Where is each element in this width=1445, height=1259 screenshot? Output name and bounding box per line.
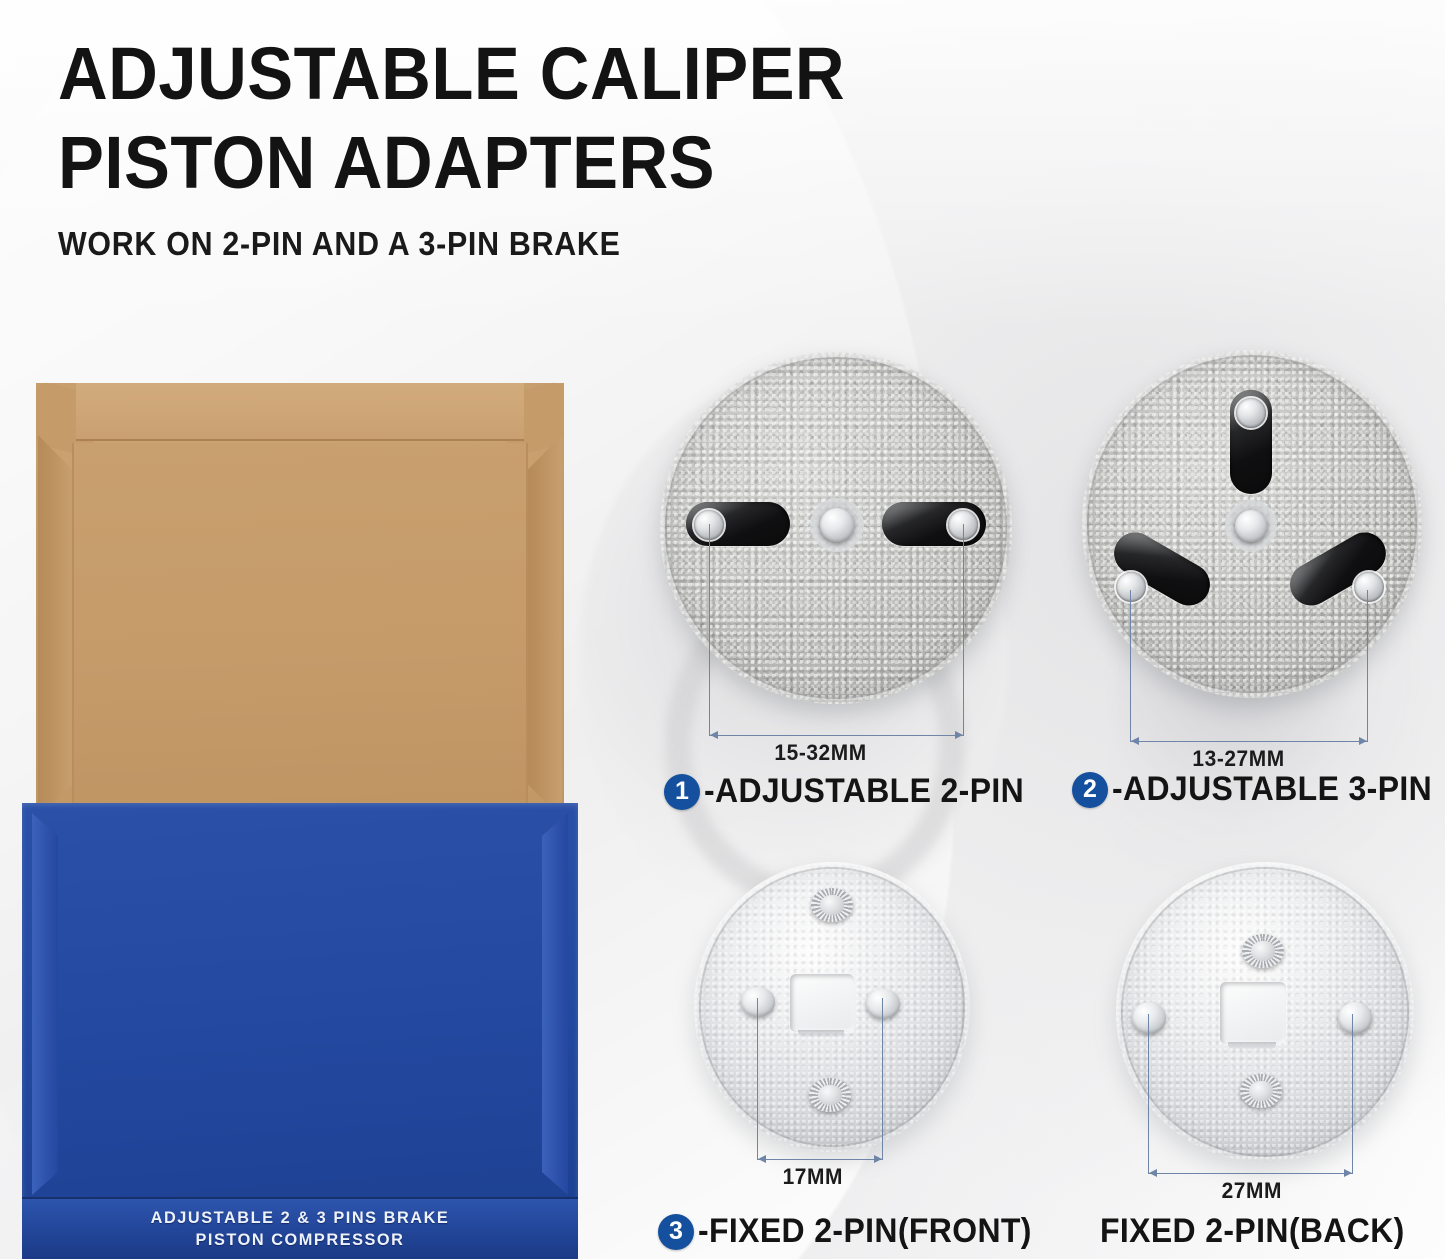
step-badge-3: 3 bbox=[658, 1214, 694, 1250]
caption-label: -ADJUSTABLE 3-PIN bbox=[1112, 770, 1432, 809]
caption-label: -FIXED 2-PIN(FRONT) bbox=[698, 1212, 1032, 1251]
lid-inner-panel bbox=[72, 443, 528, 825]
page-subtitle: WORK ON 2-PIN AND A 3-PIN BRAKE bbox=[58, 225, 886, 263]
product-kit-photo: ADJUSTABLE 2 & 3 PINS BRAKE PISTON COMPR… bbox=[22, 383, 578, 1259]
tray-rail-right bbox=[542, 813, 568, 1195]
blue-product-tray: ADJUSTABLE 2 & 3 PINS BRAKE PISTON COMPR… bbox=[22, 803, 578, 1259]
lid-side-flap-right bbox=[528, 435, 562, 819]
dimension-extension-left bbox=[709, 524, 710, 736]
dimension-arrow-right bbox=[1359, 737, 1367, 745]
adapter-panel-fixed-2-pin-front: 17MM 3 -FIXED 2-PIN(FRONT) bbox=[650, 862, 1030, 1259]
dimension-line bbox=[709, 735, 963, 736]
header-block: ADJUSTABLE CALIPER PISTON ADAPTERS WORK … bbox=[58, 38, 958, 263]
dimension-extension-left bbox=[757, 998, 758, 1160]
cardboard-box-lid bbox=[36, 383, 564, 825]
dimension-arrow-right bbox=[955, 731, 963, 739]
dimension-extension-left bbox=[1148, 1014, 1149, 1174]
adapter-panel-adjustable-2-pin: 15-32MM 1 -ADJUSTABLE 2-PIN bbox=[652, 352, 1032, 812]
adjuster-pin-top-ring bbox=[1234, 396, 1268, 430]
dimension-arrow-left bbox=[1131, 737, 1139, 745]
box-label-line-1: ADJUSTABLE 2 & 3 PINS BRAKE bbox=[33, 1207, 567, 1229]
dimension-arrow-left bbox=[710, 731, 718, 739]
knurled-stud-face bbox=[1251, 941, 1275, 960]
dimension-arrow-left bbox=[1149, 1169, 1157, 1177]
dimension-arrow-right bbox=[874, 1155, 882, 1163]
dimension-arrow-right bbox=[1344, 1169, 1352, 1177]
dimension-line bbox=[757, 1159, 882, 1160]
dimension-annotation-27mm: 27MM bbox=[1080, 1014, 1445, 1194]
dimension-extension-right bbox=[1367, 590, 1368, 742]
box-front-panel: ADJUSTABLE 2 & 3 PINS BRAKE PISTON COMPR… bbox=[22, 1197, 578, 1259]
caption-adjustable-2-pin: 1 -ADJUSTABLE 2-PIN bbox=[664, 772, 1045, 811]
caption-adjustable-3-pin: 2 -ADJUSTABLE 3-PIN bbox=[1072, 770, 1445, 809]
knurled-stud-top bbox=[811, 888, 853, 922]
dimension-extension-right bbox=[1352, 1014, 1353, 1174]
page-title-line-2: PISTON ADAPTERS bbox=[58, 127, 895, 200]
caption-fixed-2-pin-back: FIXED 2-PIN(BACK) bbox=[1100, 1212, 1424, 1251]
dimension-extension-right bbox=[963, 524, 964, 736]
dimension-annotation-17mm: 17MM bbox=[650, 998, 1030, 1178]
center-bolt bbox=[1235, 510, 1267, 542]
infographic-canvas: ADJUSTABLE CALIPER PISTON ADAPTERS WORK … bbox=[0, 0, 1445, 1259]
step-badge-1: 1 bbox=[664, 774, 700, 810]
dimension-annotation-15-32mm: 15-32MM bbox=[652, 524, 1032, 754]
dimension-line bbox=[1130, 741, 1367, 742]
lid-side-flap-left bbox=[38, 435, 72, 819]
knurled-stud-top bbox=[1242, 934, 1284, 968]
dimension-line bbox=[1148, 1173, 1352, 1174]
dimension-label: 15-32MM bbox=[774, 740, 866, 766]
step-badge-2: 2 bbox=[1072, 772, 1108, 808]
knurled-stud-face bbox=[820, 895, 844, 914]
tray-rail-left bbox=[32, 813, 58, 1195]
dimension-label: 13-27MM bbox=[1192, 746, 1284, 772]
adapter-panel-adjustable-3-pin: 13-27MM 2 -ADJUSTABLE 3-PIN bbox=[1062, 350, 1442, 810]
dimension-annotation-13-27mm: 13-27MM bbox=[1062, 590, 1442, 760]
box-printed-label: ADJUSTABLE 2 & 3 PINS BRAKE PISTON COMPR… bbox=[33, 1207, 567, 1251]
dimension-label: 17MM bbox=[783, 1164, 843, 1190]
lid-top-flap bbox=[76, 383, 524, 441]
page-title-line-1: ADJUSTABLE CALIPER bbox=[58, 38, 895, 111]
caption-fixed-2-pin-front: 3 -FIXED 2-PIN(FRONT) bbox=[658, 1212, 1053, 1251]
box-label-line-2: PISTON COMPRESSOR bbox=[33, 1229, 567, 1251]
dimension-arrow-left bbox=[758, 1155, 766, 1163]
caption-label: FIXED 2-PIN(BACK) bbox=[1100, 1212, 1405, 1251]
caption-label: -ADJUSTABLE 2-PIN bbox=[704, 772, 1024, 811]
dimension-label: 27MM bbox=[1222, 1178, 1282, 1204]
adapter-panel-fixed-2-pin-back: 27MM FIXED 2-PIN(BACK) bbox=[1080, 862, 1445, 1259]
dimension-extension-right bbox=[882, 998, 883, 1160]
dimension-extension-left bbox=[1130, 590, 1131, 742]
